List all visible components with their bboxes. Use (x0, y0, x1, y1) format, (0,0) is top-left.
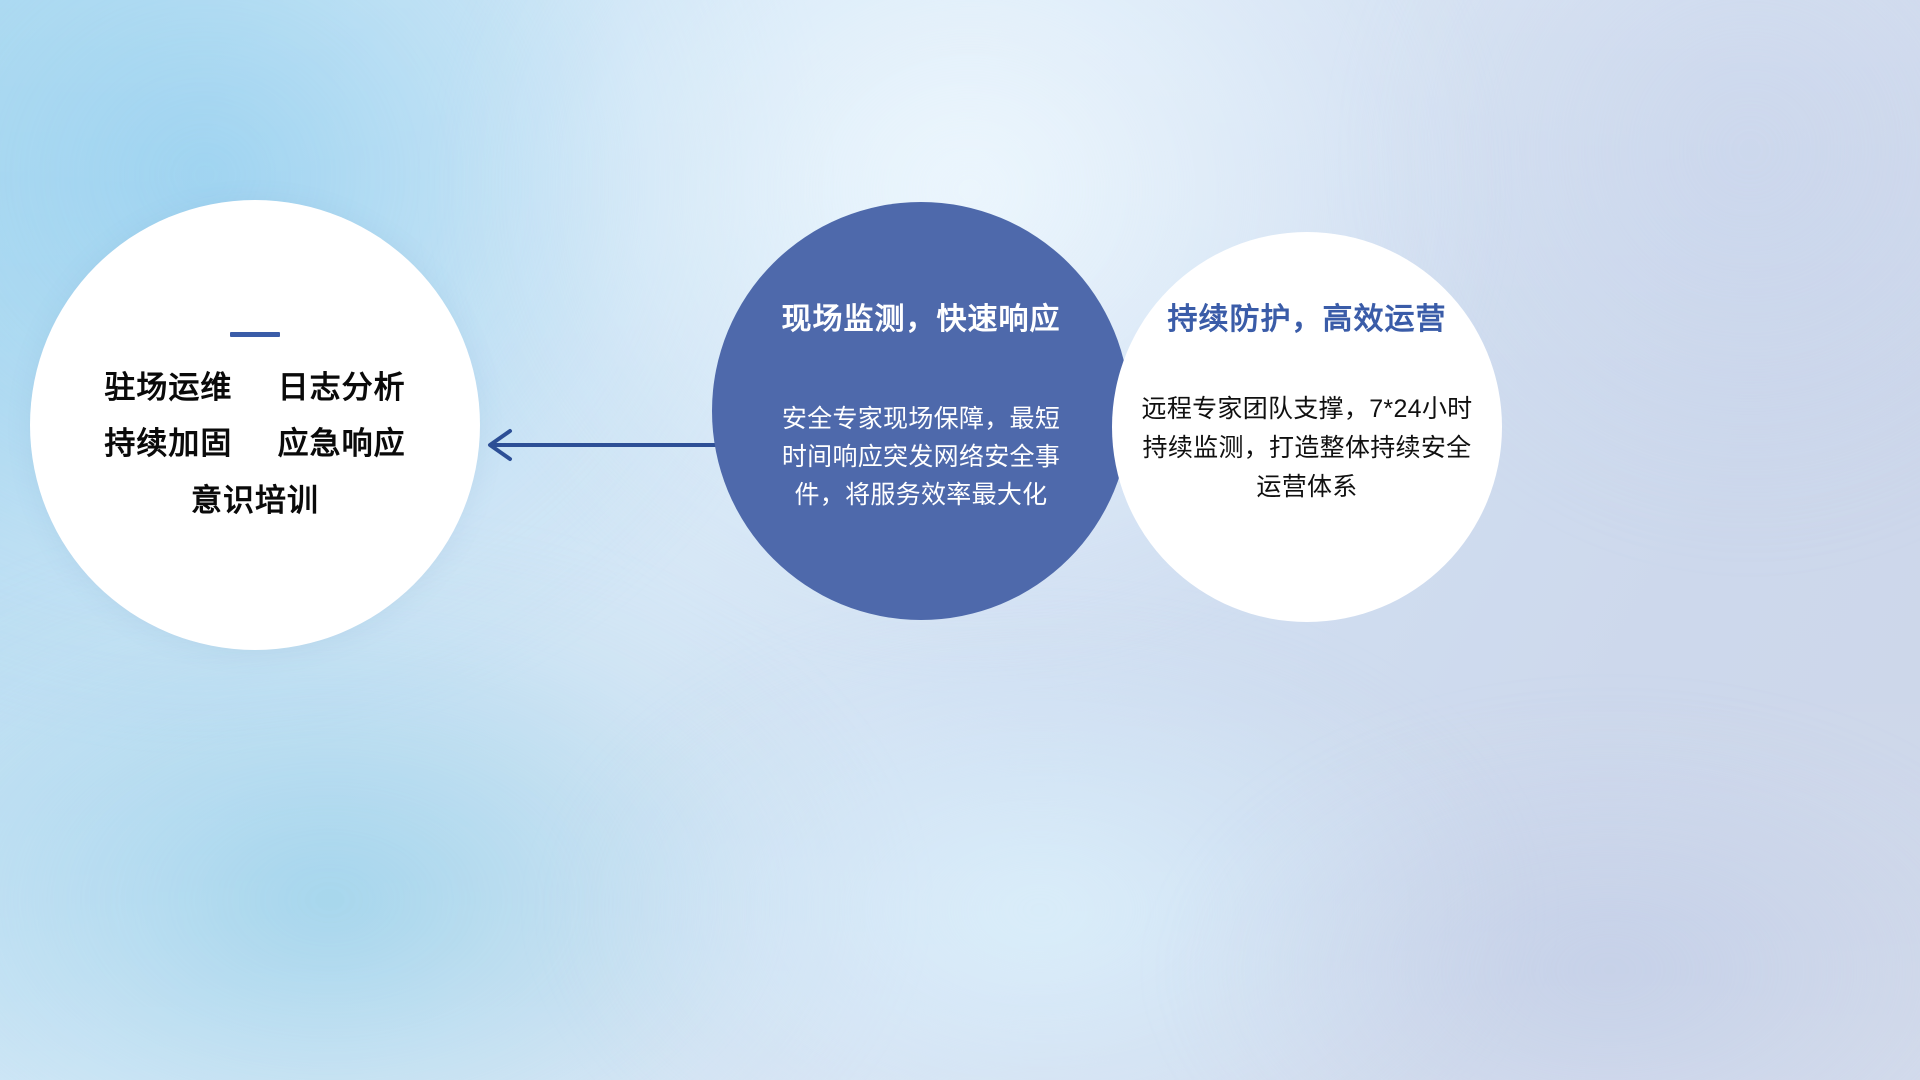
capability-label: 应急响应 (278, 426, 406, 461)
continuous-protection-body: 远程专家团队支撑，7*24小时持续监测，打造整体持续安全运营体系 (1136, 390, 1478, 506)
slide-canvas: 驻场运维 日志分析 持续加固 应急响应 意识培训 现场监测，快速响应 安全专家现… (0, 0, 1920, 1080)
capability-label: 意识培训 (191, 483, 319, 518)
continuous-protection-circle: 持续防护，高效运营 远程专家团队支撑，7*24小时持续监测，打造整体持续安全运营… (1112, 232, 1502, 622)
continuous-protection-title: 持续防护，高效运营 (1168, 294, 1447, 338)
onsite-monitoring-circle: 现场监测，快速响应 安全专家现场保障，最短时间响应突发网络安全事件，将服务效率最… (712, 202, 1130, 620)
list-item: 意识培训 (191, 484, 319, 518)
list-item: 驻场运维 日志分析 (104, 371, 405, 405)
onsite-monitoring-body: 安全专家现场保障，最短时间响应突发网络安全事件，将服务效率最大化 (771, 400, 1071, 514)
onsite-monitoring-title: 现场监测，快速响应 (782, 294, 1061, 338)
capabilities-circle: 驻场运维 日志分析 持续加固 应急响应 意识培训 (30, 200, 480, 650)
divider-dash-icon (230, 332, 280, 337)
list-item: 持续加固 应急响应 (104, 427, 405, 461)
capability-label: 驻场运维 (104, 370, 232, 405)
capability-label: 持续加固 (104, 426, 232, 461)
capability-label: 日志分析 (278, 370, 406, 405)
capabilities-list: 驻场运维 日志分析 持续加固 应急响应 意识培训 (104, 371, 405, 517)
